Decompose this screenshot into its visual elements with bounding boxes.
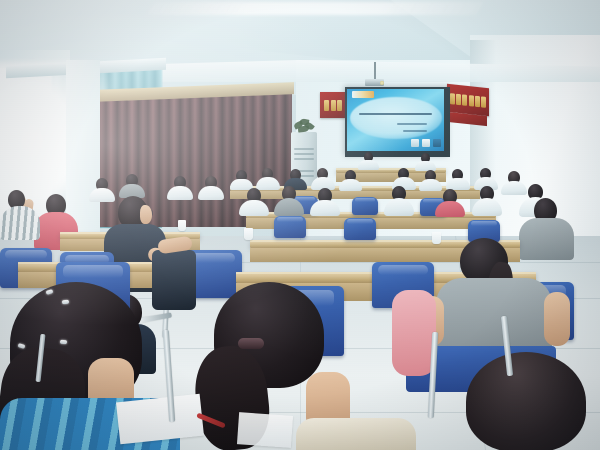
photo-scene: Lecture hall training session [0, 0, 600, 450]
person-fg-centre-torso [296, 418, 416, 450]
slide-icon-user [433, 139, 441, 147]
presenter-torso-right [415, 161, 436, 171]
slide-headline-text [359, 113, 432, 115]
slide-icon-book [422, 139, 430, 147]
audience-torso [501, 181, 527, 195]
audience-torso-striped [0, 206, 40, 240]
person-woman-grey-vest-shoulder [544, 292, 570, 346]
presenter-torso-left [358, 160, 379, 170]
red-banner-left [320, 92, 346, 118]
chair[interactable] [274, 216, 306, 238]
chair[interactable] [344, 218, 376, 240]
slide-ellipse-graphic [350, 97, 442, 139]
audience-torso [167, 186, 193, 200]
projection-screen [347, 89, 444, 151]
audience-torso [239, 200, 269, 216]
handout-paper [116, 394, 204, 445]
audience-torso [339, 179, 362, 191]
audience-torso [256, 177, 280, 190]
projector-lens-icon [380, 81, 384, 85]
audience-torso [435, 201, 465, 217]
slide-icon-chart [411, 139, 419, 147]
audience-torso [419, 179, 442, 191]
hair-tie [238, 338, 264, 349]
person-standing-legs [152, 250, 196, 310]
foreground-head-right [466, 352, 586, 450]
audience-torso [198, 186, 224, 200]
slide-subline-2 [403, 130, 427, 132]
paper-cup [244, 228, 253, 240]
red-banner-right [447, 84, 489, 116]
chair[interactable] [352, 197, 378, 215]
slide-subline-1 [397, 123, 427, 125]
ceiling-light-fixture [146, 2, 484, 15]
person-man-grey-sweater-torso [519, 218, 574, 260]
potted-plant-icon [292, 118, 316, 134]
paper-cup [432, 232, 441, 244]
paper-cup [178, 220, 186, 231]
audience-torso [310, 200, 340, 216]
hair-clip-icon [60, 340, 67, 344]
person-man-navy-face [140, 205, 152, 224]
slide-logo-icon [352, 91, 374, 98]
handout-paper [237, 412, 293, 448]
audience-torso [89, 188, 115, 202]
audience-torso-pink-sleeve [392, 290, 436, 376]
